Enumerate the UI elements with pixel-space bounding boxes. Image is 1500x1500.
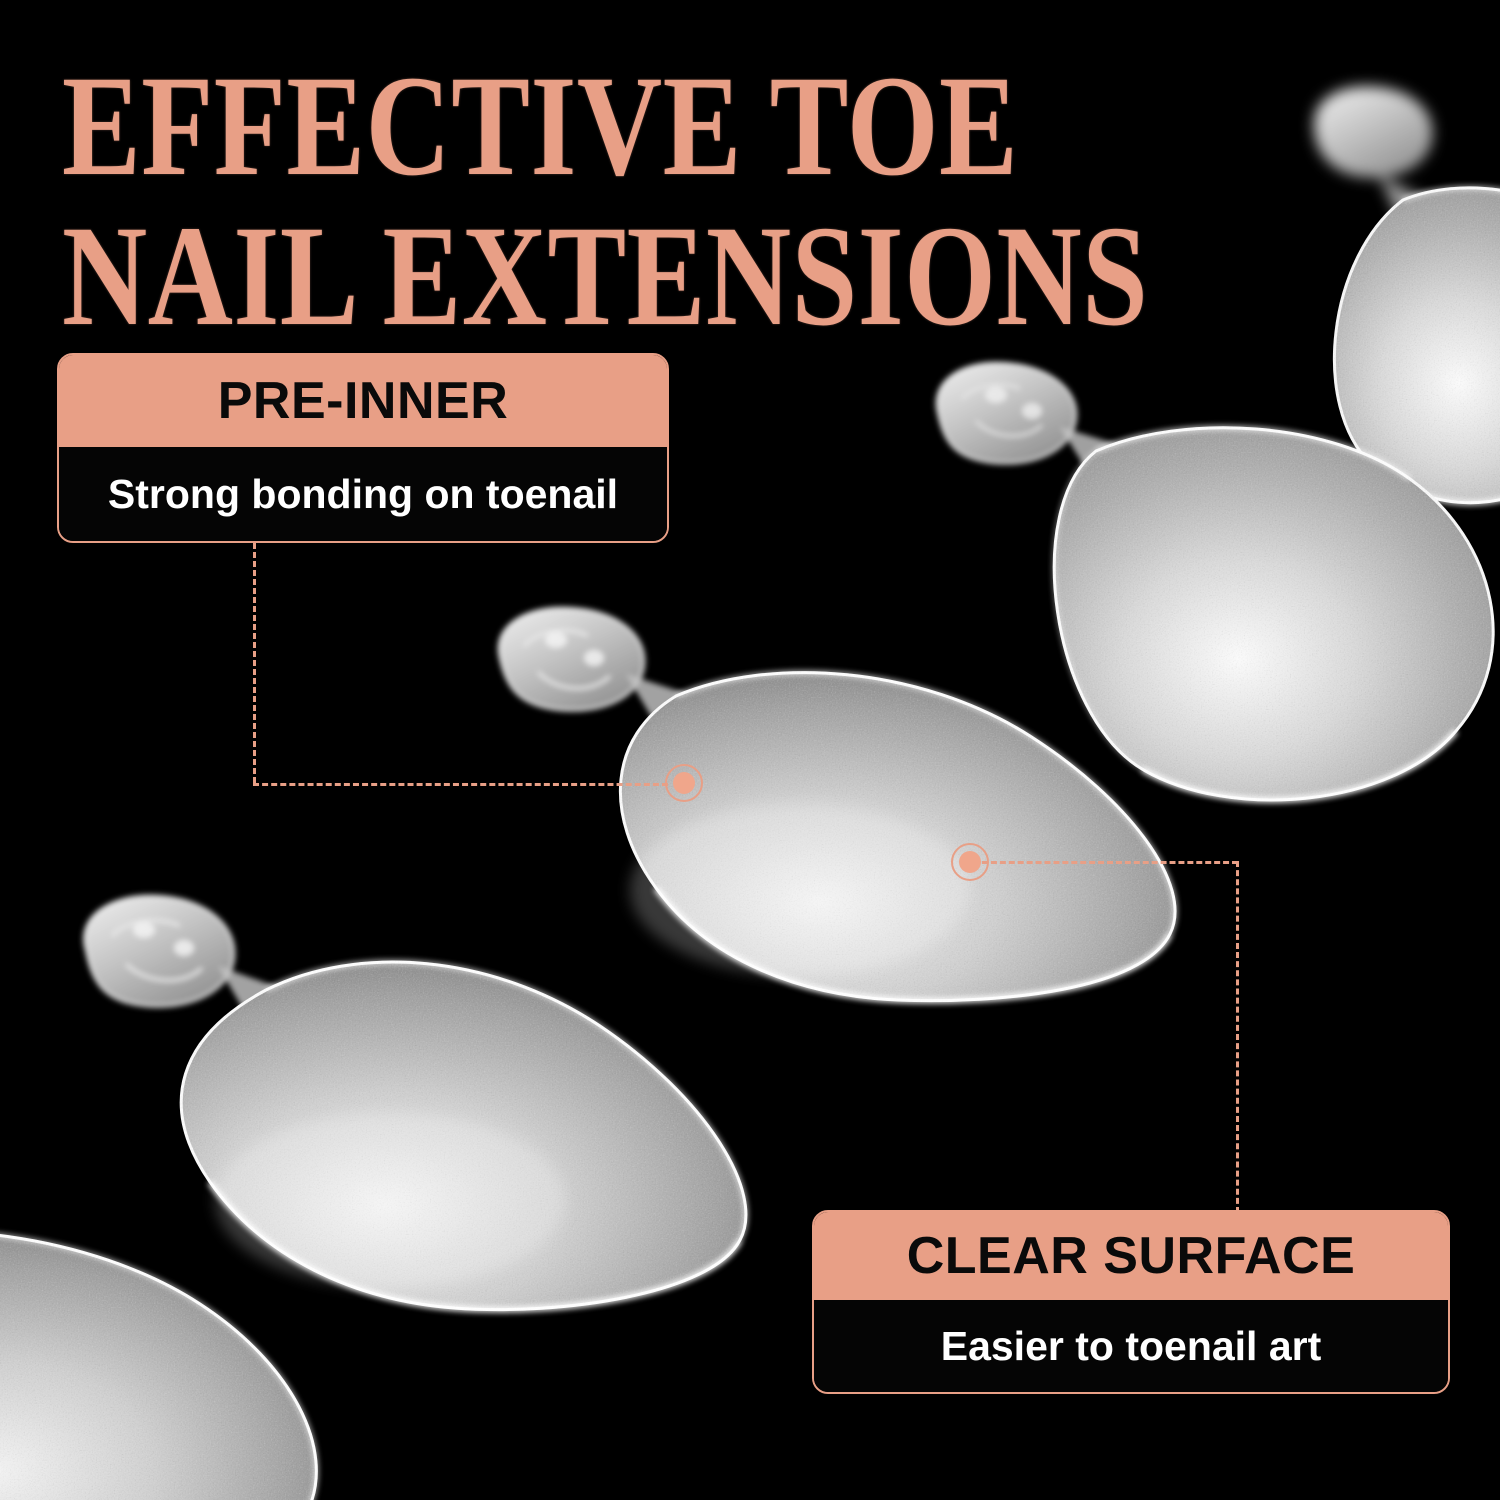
infographic-canvas: EFFECTIVE TOE NAIL EXTENSIONS PRE-INNER … <box>0 0 1500 1500</box>
leader-line-clear-surface-horizontal <box>982 861 1238 864</box>
marker-clear-surface[interactable] <box>951 843 989 881</box>
leader-line-pre-inner-horizontal <box>253 783 668 786</box>
leader-line-clear-surface-vertical <box>1236 861 1239 1213</box>
callout-pre-inner-description: Strong bonding on toenail <box>59 447 667 541</box>
callout-clear-surface-description: Easier to toenail art <box>814 1300 1448 1392</box>
callout-clear-surface[interactable]: CLEAR SURFACE Easier to toenail art <box>812 1210 1450 1394</box>
callout-clear-surface-title: CLEAR SURFACE <box>814 1212 1448 1300</box>
callout-pre-inner-title: PRE-INNER <box>59 355 667 447</box>
page-title: EFFECTIVE TOE NAIL EXTENSIONS <box>62 52 1262 351</box>
nail-tip-bottom-left <box>0 1210 390 1500</box>
marker-pre-inner[interactable] <box>665 764 703 802</box>
callout-pre-inner[interactable]: PRE-INNER Strong bonding on toenail <box>57 353 669 543</box>
leader-line-pre-inner-vertical <box>253 543 256 783</box>
